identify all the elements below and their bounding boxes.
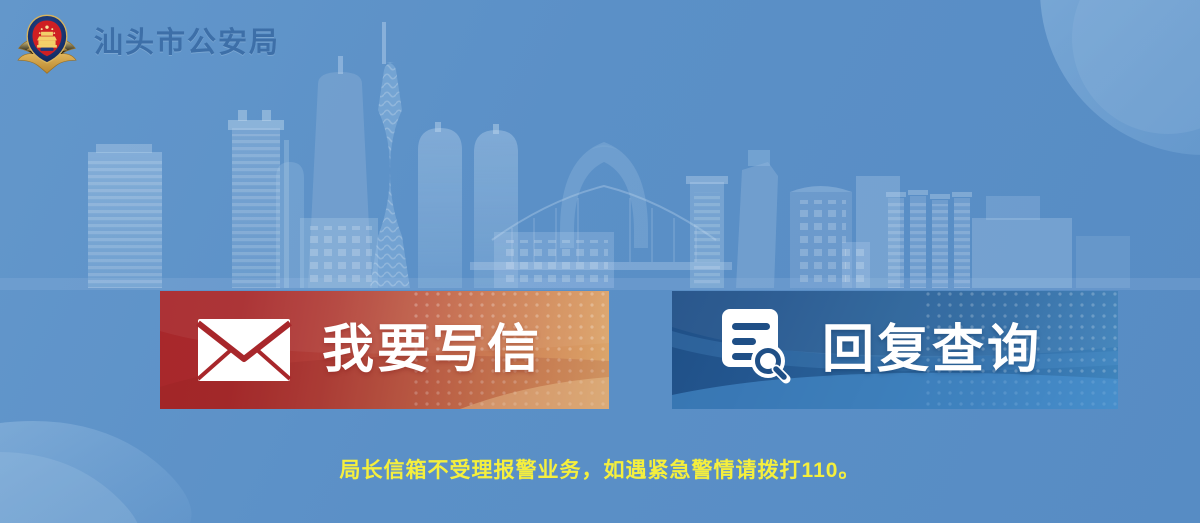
- reply-query-label: 回复查询: [822, 324, 1042, 376]
- background-decoration: [0, 0, 1200, 523]
- write-letter-label: 我要写信: [322, 324, 542, 376]
- site-header: 汕头市公安局: [14, 10, 280, 76]
- reply-query-button[interactable]: 回复查询: [672, 291, 1118, 409]
- canton-tower: [370, 22, 410, 288]
- write-letter-button[interactable]: 我要写信: [160, 291, 609, 409]
- decorative-circle-top-right: [1040, 0, 1200, 155]
- emergency-notice: 局长信箱不受理报警业务，如遇紧急警情请拨打110。: [0, 458, 1200, 483]
- site-title: 汕头市公安局: [94, 29, 280, 58]
- primary-action-row: 我要写信: [160, 291, 1118, 409]
- leader-mailbox-banner: 汕头市公安局: [0, 0, 1200, 523]
- envelope-icon: [196, 315, 292, 385]
- arch-bridge: [470, 142, 732, 270]
- document-search-icon: [712, 309, 794, 391]
- police-badge-icon: [14, 10, 80, 76]
